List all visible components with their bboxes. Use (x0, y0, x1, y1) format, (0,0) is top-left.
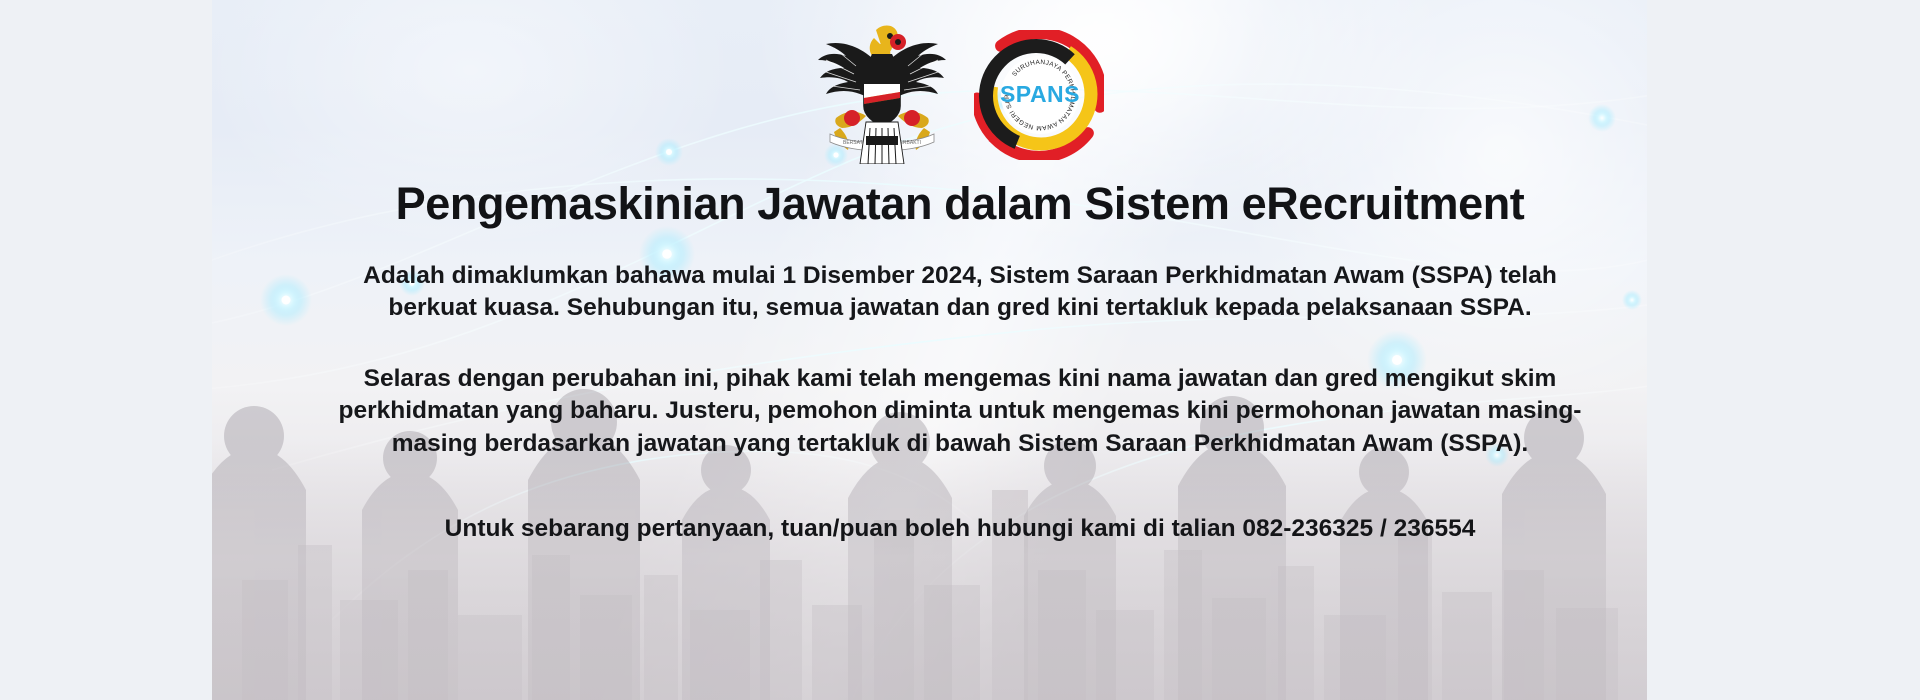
announcement-paragraph-2: Selaras dengan perubahan ini, pihak kami… (310, 363, 1610, 461)
announcement-paragraph-1: Adalah dimaklumkan bahawa mulai 1 Disemb… (335, 260, 1585, 325)
announcement-page: BERSATU BERUSAHA BERBAKTI (0, 0, 1920, 700)
page-title: Pengemaskinian Jawatan dalam Sistem eRec… (396, 178, 1525, 230)
contact-line: Untuk sebarang pertanyaan, tuan/puan bol… (445, 513, 1476, 546)
announcement-content: Pengemaskinian Jawatan dalam Sistem eRec… (0, 0, 1920, 700)
